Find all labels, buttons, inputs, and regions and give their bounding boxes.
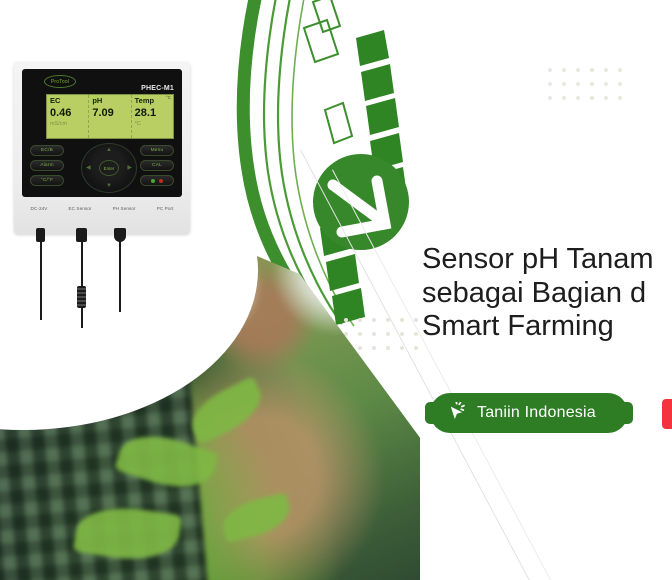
page-title: Sensor pH Tanam sebagai Bagian d Smart F… xyxy=(422,243,672,344)
lcd-value: 0.46 xyxy=(50,106,85,120)
lcd-unit: mS/cm xyxy=(50,120,85,128)
cable-wire xyxy=(81,240,83,328)
device-left-buttons: EC/B Alarm °C/°F xyxy=(30,145,64,186)
port-label-dc24v: DC-24V xyxy=(31,206,48,211)
chevron-down-icon[interactable]: ▼ xyxy=(106,183,112,189)
device-dpad-enter[interactable]: Enter xyxy=(99,160,119,176)
device-port-labels: DC-24V EC Sensor PH Sensor PC Port xyxy=(14,202,190,214)
diagonal-slashes-lower xyxy=(320,220,365,325)
port-label-pc-port: PC Port xyxy=(157,206,174,211)
device-button-menu[interactable]: Menu xyxy=(140,145,174,156)
device-dpad[interactable]: ▲ ▼ ◀ ▶ Enter xyxy=(81,143,137,193)
cable-wire xyxy=(40,240,42,320)
promo-banner: ProTool PHEC-M1 EC 0.46 mS/cm pH 7.09 °C… xyxy=(0,0,672,580)
headline-line-2: sebagai Bagian d xyxy=(422,277,646,309)
cable-strain-relief xyxy=(77,286,86,308)
chevron-right-icon[interactable]: ▶ xyxy=(127,165,132,171)
dot-grid-top xyxy=(548,68,632,110)
headline-line-3: Smart Farming xyxy=(422,310,614,342)
device-brand-logo: ProTool xyxy=(44,75,76,88)
device-lcd-screen: EC 0.46 mS/cm pH 7.09 °C Temp 28.1 °C xyxy=(46,94,174,139)
lcd-label: pH xyxy=(92,96,127,106)
brand-badge-label: Taniin Indonesia xyxy=(477,404,596,422)
brand-badge[interactable]: Taniin Indonesia xyxy=(430,393,628,433)
device-right-buttons: Menu CAL xyxy=(140,145,174,186)
outline-bars xyxy=(304,0,352,143)
device-button-alarm[interactable]: Alarm xyxy=(30,160,64,171)
power-led-green-icon xyxy=(151,179,155,183)
red-accent-tab[interactable] xyxy=(662,399,672,429)
lcd-value: 28.1 xyxy=(135,106,170,120)
device-model-label: PHEC-M1 xyxy=(141,85,174,92)
chevron-left-icon[interactable]: ◀ xyxy=(86,165,91,171)
lcd-label: Temp xyxy=(135,96,170,106)
lcd-reading-ec: EC 0.46 mS/cm xyxy=(47,95,89,138)
headline-line-1: Sensor pH Tanam xyxy=(422,243,654,275)
diagonal-slashes xyxy=(356,30,407,204)
device-button-ec-b[interactable]: EC/B xyxy=(30,145,64,156)
device-button-units[interactable]: °C/°F xyxy=(30,175,64,186)
device-button-cal[interactable]: CAL xyxy=(140,160,174,171)
chevron-up-icon[interactable]: ▲ xyxy=(106,147,112,153)
device-button-power[interactable] xyxy=(140,175,174,186)
lcd-value: 7.09 xyxy=(92,106,127,120)
cursor-click-icon xyxy=(446,402,468,424)
cable-wire xyxy=(119,240,121,312)
port-label-ph-sensor: PH Sensor xyxy=(113,206,136,211)
port-label-ec-sensor: EC Sensor xyxy=(68,206,91,211)
power-led-red-icon xyxy=(159,179,163,183)
lcd-reading-ph: pH 7.09 xyxy=(89,95,131,138)
lcd-label: EC xyxy=(50,96,85,106)
ph-ec-controller-device: ProTool PHEC-M1 EC 0.46 mS/cm pH 7.09 °C… xyxy=(14,62,190,234)
lcd-superscript: °C xyxy=(166,95,171,100)
lcd-reading-temp: °C Temp 28.1 °C xyxy=(132,95,173,138)
lcd-unit: °C xyxy=(135,120,170,128)
device-front-panel: ProTool PHEC-M1 EC 0.46 mS/cm pH 7.09 °C… xyxy=(22,69,182,197)
device-cables xyxy=(14,228,194,348)
